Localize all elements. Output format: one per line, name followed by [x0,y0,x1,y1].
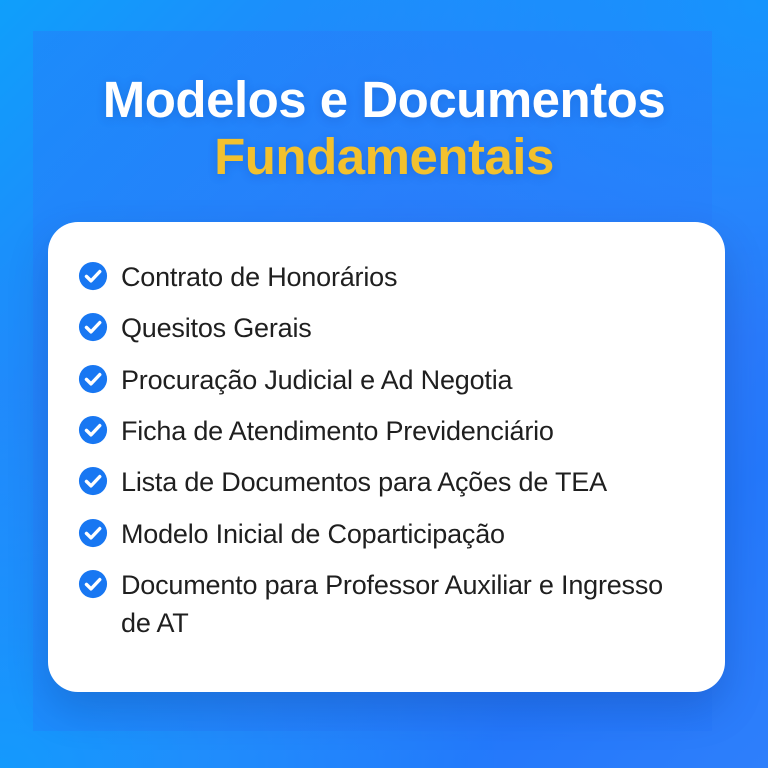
list-item: Procuração Judicial e Ad Negotia [78,361,699,399]
list-item: Ficha de Atendimento Previdenciário [78,412,699,450]
list-item-label: Modelo Inicial de Coparticipação [121,515,505,553]
list-item: Quesitos Gerais [78,309,699,347]
list-item: Modelo Inicial de Coparticipação [78,515,699,553]
list-item-label: Quesitos Gerais [121,309,312,347]
page-title-line-1: Modelos e Documentos [30,72,738,127]
poster-canvas: Modelos e Documentos Fundamentais Contra… [0,0,768,768]
list-item-label: Procuração Judicial e Ad Negotia [121,361,512,399]
list-item: Contrato de Honorários [78,258,699,296]
check-circle-icon [78,312,108,342]
list-item-label: Ficha de Atendimento Previdenciário [121,412,554,450]
check-circle-icon [78,364,108,394]
list-item: Documento para Professor Auxiliar e Ingr… [78,566,699,643]
page-title: Modelos e Documentos Fundamentais [0,72,768,187]
check-circle-icon [78,569,108,599]
check-circle-icon [78,415,108,445]
list-item: Lista de Documentos para Ações de TEA [78,463,699,501]
check-circle-icon [78,466,108,496]
page-title-line-2: Fundamentais [30,127,738,187]
list-item-label: Lista de Documentos para Ações de TEA [121,463,607,501]
checklist: Contrato de Honorários Quesitos Gerais [78,258,699,643]
checklist-card: Contrato de Honorários Quesitos Gerais [48,222,725,692]
check-circle-icon [78,518,108,548]
list-item-label: Documento para Professor Auxiliar e Ingr… [121,566,699,643]
check-circle-icon [78,261,108,291]
list-item-label: Contrato de Honorários [121,258,397,296]
